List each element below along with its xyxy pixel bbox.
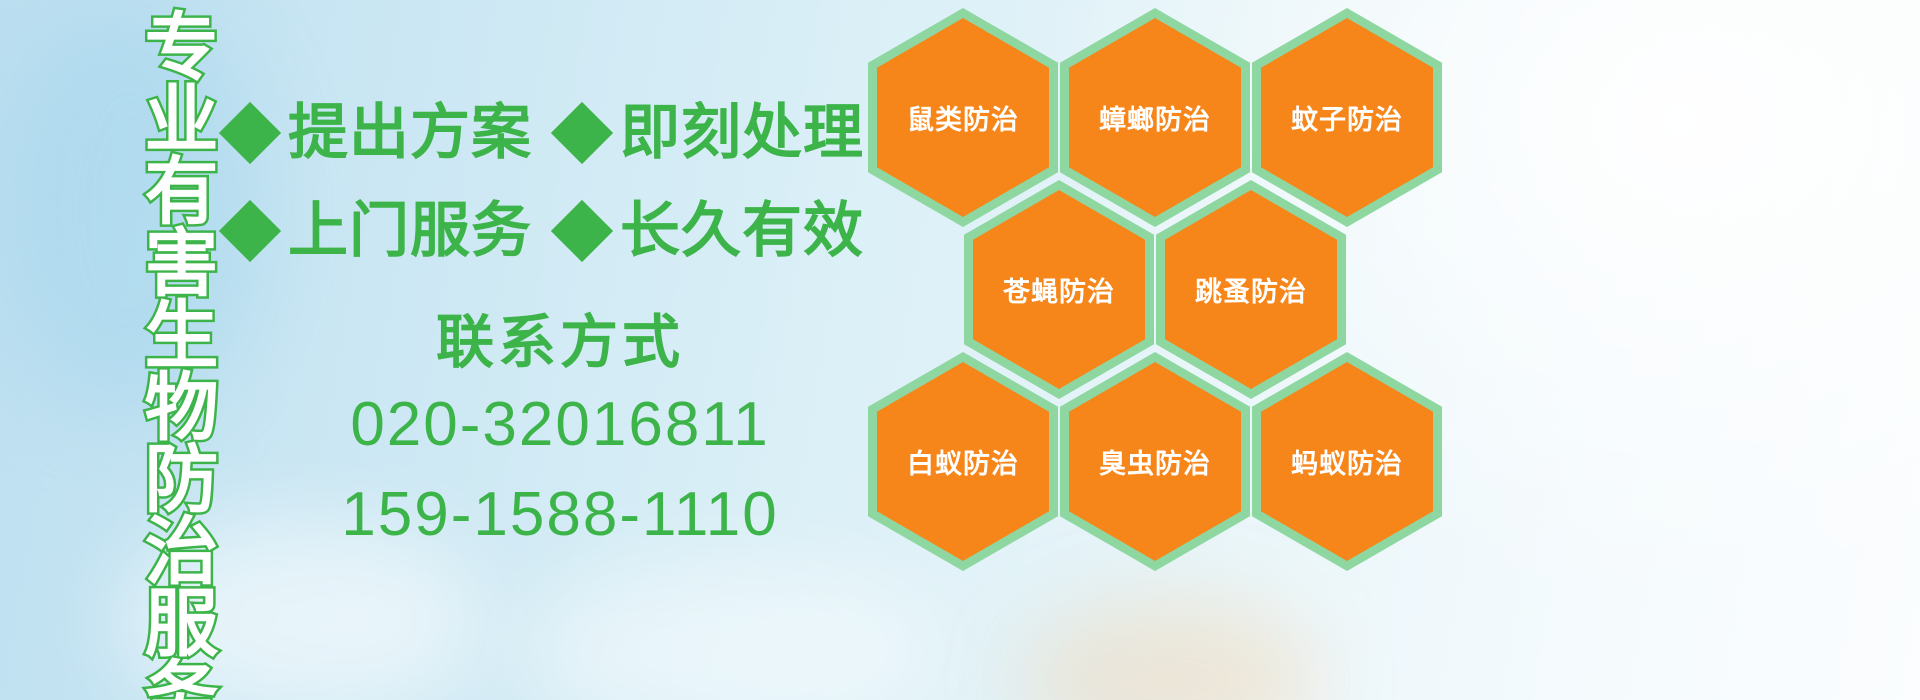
feature-item: 上门服务 [228, 201, 532, 261]
contact-title: 联系方式 [300, 312, 820, 373]
hex-cell-bedbug[interactable]: 臭虫防治 [1060, 352, 1250, 571]
hex-label: 蚂蚁防治 [1291, 442, 1403, 481]
contact-block: 联系方式 020-32016811 159-1588-1110 [300, 312, 820, 552]
promo-banner: 专业有害生物防治服务 提出方案 即刻处理 上门服务 长久有效 联 [0, 0, 1920, 700]
hex-cell-ant[interactable]: 蚂蚁防治 [1252, 352, 1442, 571]
feature-item: 即刻处理 [560, 103, 864, 163]
hex-label: 蚊子防治 [1291, 98, 1403, 137]
hex-cell-mosquito[interactable]: 蚊子防治 [1252, 8, 1442, 227]
feature-row: 提出方案 即刻处理 [228, 84, 868, 182]
feature-item: 长久有效 [560, 201, 864, 261]
hex-label: 臭虫防治 [1099, 442, 1211, 481]
hex-cell-flea[interactable]: 跳蚤防治 [1156, 180, 1346, 399]
phone-number-primary[interactable]: 020-32016811 [300, 387, 820, 463]
diamond-icon [551, 102, 613, 164]
feature-row: 上门服务 长久有效 [228, 182, 868, 280]
feature-label: 提出方案 [288, 103, 532, 163]
hex-label: 跳蚤防治 [1195, 270, 1307, 309]
hex-label: 蟑螂防治 [1099, 98, 1211, 137]
hex-label: 鼠类防治 [907, 98, 1019, 137]
feature-label: 长久有效 [620, 201, 864, 261]
diamond-icon [551, 200, 613, 262]
diamond-icon [219, 200, 281, 262]
hex-cell-cockroach[interactable]: 蟑螂防治 [1060, 8, 1250, 227]
hex-label: 苍蝇防治 [1003, 270, 1115, 309]
diamond-icon [219, 102, 281, 164]
feature-item: 提出方案 [228, 103, 532, 163]
feature-list: 提出方案 即刻处理 上门服务 长久有效 [228, 84, 868, 280]
hex-cell-termite[interactable]: 白蚁防治 [868, 352, 1058, 571]
service-honeycomb: 鼠类防治 蟑螂防治 蚊子防治 苍蝇防治 跳蚤防治 白蚁防治 臭虫防治 [862, 0, 1462, 700]
feature-label: 即刻处理 [620, 103, 864, 163]
phone-number-secondary[interactable]: 159-1588-1110 [300, 477, 820, 553]
vertical-headline: 专业有害生物防治服务 [108, 8, 212, 700]
hex-cell-rodent[interactable]: 鼠类防治 [868, 8, 1058, 227]
hex-label: 白蚁防治 [907, 442, 1019, 481]
feature-label: 上门服务 [288, 201, 532, 261]
hex-cell-fly[interactable]: 苍蝇防治 [964, 180, 1154, 399]
